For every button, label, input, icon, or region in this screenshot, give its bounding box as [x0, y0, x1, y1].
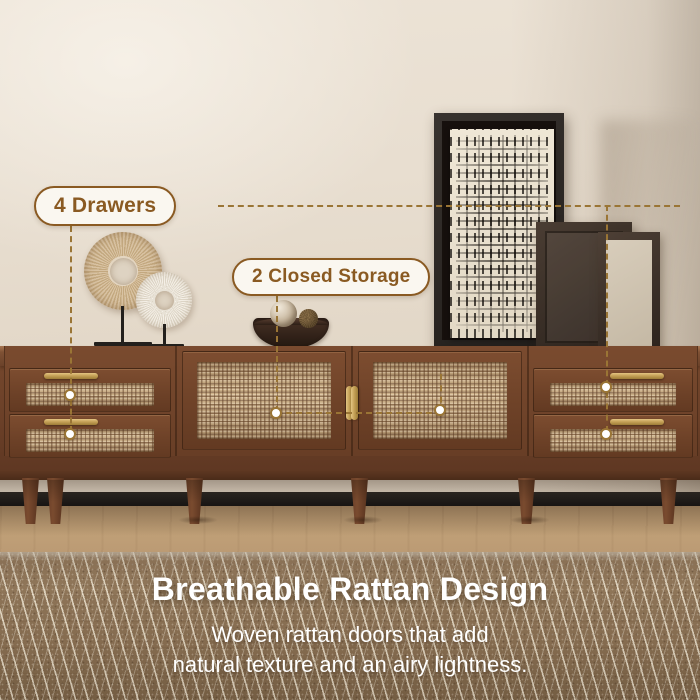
connector-dot-drawer-bottom-left [64, 428, 76, 440]
connector-line-storage-horizontal [276, 412, 442, 414]
connector-dot-drawer-bottom-right [600, 428, 612, 440]
rattan-panel-door-left [197, 362, 331, 439]
connector-dot-drawer-top-right [600, 381, 612, 393]
connector-line-drawers-horizontal [218, 205, 680, 207]
connector-dot-drawer-top-left [64, 389, 76, 401]
connector-line-storage-vertical [276, 296, 278, 412]
rattan-shading [26, 383, 154, 406]
cabinet-door-left-panel[interactable] [182, 351, 346, 450]
callout-label-closed-storage: 2 Closed Storage [252, 266, 410, 288]
decor-ring-sculptures [84, 232, 214, 350]
rattan-shading [550, 429, 676, 452]
banner-subline-line-1: Woven rattan doors that add [0, 620, 700, 650]
leg-shadow-3 [178, 516, 218, 524]
rattan-shading [197, 362, 331, 439]
drawer-bank-left [4, 346, 176, 456]
connector-line-right-vertical-2 [606, 392, 608, 432]
banner-headline: Breathable Rattan Design [0, 571, 700, 608]
drawer-bottom-right[interactable] [533, 414, 693, 458]
artwork-maze-pattern [456, 135, 548, 332]
leg-shadow-4 [343, 516, 383, 524]
leg-shadow-5 [510, 516, 550, 524]
handle-drawer-top-right[interactable] [610, 373, 664, 379]
cabinet-door-left[interactable] [176, 346, 352, 456]
connector-dot-door-left [270, 407, 282, 419]
drawer-bottom-left[interactable] [9, 414, 171, 458]
callout-label-drawers: 4 Drawers [54, 194, 156, 218]
rattan-shading [26, 429, 154, 452]
sideboard-console [0, 346, 700, 512]
sideboard-plinth [0, 471, 700, 480]
drawer-top-left[interactable] [9, 368, 171, 412]
connector-dot-door-right [434, 404, 446, 416]
connector-line-right-vertical [606, 205, 608, 386]
rattan-panel-drawer-top-left [26, 383, 154, 406]
sideboard-under-shadow [0, 480, 700, 502]
callout-badge-drawers[interactable]: 4 Drawers [34, 186, 176, 226]
banner-subline: Woven rattan doors that add natural text… [0, 620, 700, 680]
rattan-panel-drawer-bottom-left [26, 429, 154, 452]
callout-badge-closed-storage[interactable]: 2 Closed Storage [232, 258, 430, 296]
decor-sphere-light [270, 300, 297, 327]
ring-large-stand-post [121, 306, 124, 342]
product-marketing-image: 4 Drawers 2 Closed Storage Breathable Ra… [0, 0, 700, 700]
rattan-panel-drawer-bottom-right [550, 429, 676, 452]
ring-small-stand-post [163, 324, 166, 344]
ring-small-hole [155, 291, 174, 310]
rattan-shading [550, 383, 676, 406]
decor-sphere-woven [299, 309, 318, 328]
ring-large-hole [110, 258, 137, 285]
handle-drawer-bottom-right[interactable] [610, 419, 664, 425]
drawer-bank-right [528, 346, 698, 456]
handle-door-right[interactable] [351, 386, 358, 420]
connector-line-drawers-vertical [70, 226, 72, 394]
drawer-top-right[interactable] [533, 368, 693, 412]
rattan-panel-drawer-top-right [550, 383, 676, 406]
empty-frame-opening [606, 240, 652, 350]
banner-subline-line-2: natural texture and an airy lightness. [0, 650, 700, 680]
